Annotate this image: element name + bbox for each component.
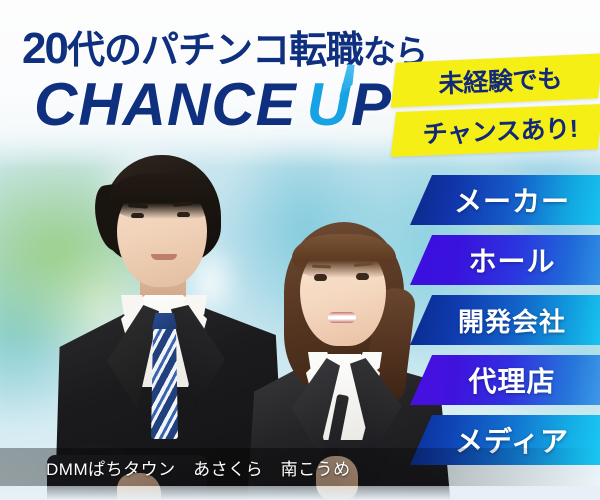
category-item-agency[interactable]: 代理店 — [410, 355, 600, 405]
category-label-maker: メーカー — [440, 180, 570, 220]
recruitment-banner[interactable]: 20代のパチンコ転職なら CHANCEUP 未経験でも チャンスあり! メーカー… — [0, 0, 600, 500]
category-item-hall[interactable]: ホール — [410, 235, 600, 285]
headline-primary: 20代のパチンコ転職なら — [22, 19, 427, 74]
headline-up-u-letter: U — [307, 70, 351, 139]
category-item-maker[interactable]: メーカー — [410, 175, 600, 225]
headline-age-number: 20 — [22, 24, 67, 73]
man-striped-necktie — [151, 321, 178, 439]
man-eye-left — [131, 213, 144, 218]
man-necktie-knot — [152, 313, 177, 329]
headline-up-p-letter: P — [351, 71, 392, 138]
man-eye-right — [177, 212, 190, 217]
credit-caption-strip: DMMぱちタウン あさくら 南こうめ — [0, 448, 600, 486]
credit-caption-text: DMMぱちタウン あさくら 南こうめ — [0, 455, 351, 480]
job-category-list: メーカー ホール 開発会社 代理店 メディア — [410, 175, 600, 475]
badge-line-2-label: チャンスあり! — [407, 108, 593, 151]
headline-chance-up: CHANCEUP — [34, 70, 392, 139]
man-hair-fringe — [109, 173, 217, 219]
headline-chance-word: CHANCE — [34, 71, 297, 138]
woman-smiling-mouth — [328, 312, 356, 323]
badge-line-1: 未経験でも — [391, 53, 600, 107]
category-item-developer[interactable]: 開発会社 — [410, 295, 600, 345]
woman-eye-left — [314, 274, 327, 281]
highlight-badge: 未経験でも チャンスあり! — [394, 58, 600, 158]
man-mouth — [151, 254, 177, 260]
category-label-hall: ホール — [454, 240, 555, 280]
badge-line-1-label: 未経験でも — [407, 58, 594, 102]
woman-eye-right — [356, 273, 369, 280]
headline-main-text: 代のパチンコ転職 — [67, 30, 363, 72]
category-label-developer: 開発会社 — [444, 302, 566, 339]
badge-line-2: チャンスあり! — [391, 104, 600, 157]
woman-hair-fringe — [292, 234, 396, 278]
category-label-agency: 代理店 — [454, 360, 555, 400]
bottom-edge-fade — [0, 486, 600, 500]
